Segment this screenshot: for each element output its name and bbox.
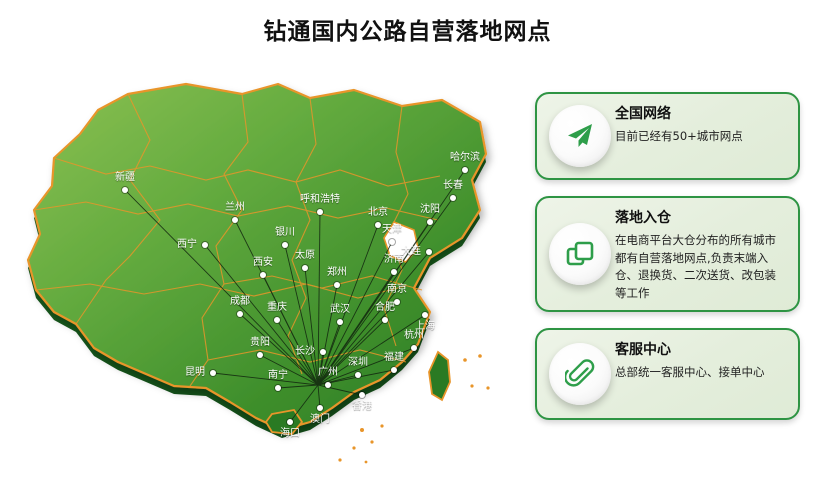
card-title: 落地入仓 [615,210,784,227]
city-label: 武汉 [330,305,350,315]
city-label: 贵阳 [250,338,270,348]
city-dot-icon [237,311,243,317]
city-label: 沈阳 [420,205,440,215]
city-label: 西安 [253,258,273,268]
card-text: 目前已经有50+城市网点 [615,128,784,146]
city-label: 澳门 [310,415,330,425]
card-text: 在电商平台大仓分布的所有城市都有自营落地网点,负责末端入仓、退换货、二次送货、改… [615,232,784,303]
city-label: 深圳 [348,358,368,368]
city-label: 南京 [387,285,407,295]
city-label: 北京 [368,208,388,218]
city-label: 郑州 [327,268,347,278]
city-label: 成都 [230,297,250,307]
city-dot-icon [260,272,266,278]
city-dot-icon [202,242,208,248]
city-dot-icon [355,372,361,378]
city-dot-icon [302,265,308,271]
city-dot-icon [391,367,397,373]
city-label: 香港 [352,402,372,412]
city-label: 呼和浩特 [300,195,340,205]
city-dot-icon [427,219,433,225]
city-dot-icon [257,352,263,358]
city-dot-icon [232,217,238,223]
city-label: 海口 [280,429,300,439]
city-label: 重庆 [267,303,287,313]
city-dot-icon [391,269,397,275]
city-dot-icon [275,385,281,391]
city-label: 大连 [401,247,421,257]
feature-card-kefu-zhongxin[interactable]: 客服中心 总部统一客服中心、接单中心 [535,328,800,420]
city-dot-icon [426,249,432,255]
feature-card-luodi-rucang[interactable]: 落地入仓 在电商平台大仓分布的所有城市都有自营落地网点,负责末端入仓、退换货、二… [535,196,800,312]
city-dot-icon [325,382,331,388]
card-text: 总部统一客服中心、接单中心 [615,364,784,382]
city-label: 银川 [275,228,295,238]
paperclip-icon [549,343,611,405]
taiwan-island [429,352,450,400]
city-dot-icon [334,282,340,288]
feature-card-quanguo-wangluo[interactable]: 全国网络 目前已经有50+城市网点 [535,92,800,180]
city-dot-icon [375,222,381,228]
city-dot-icon [337,319,343,325]
china-map: 新疆兰州西宁银川呼和浩特北京天津哈尔滨长春沈阳大连太原西安济南郑州南京成都重庆武… [10,70,520,470]
feature-card-list: 全国网络 目前已经有50+城市网点 落地入仓 在电商平台大仓分布的所有城市都有自… [535,92,800,420]
city-dot-icon [287,419,293,425]
city-dot-icon [274,317,280,323]
city-label: 太原 [295,251,315,261]
city-label: 合肥 [375,303,395,313]
city-label: 昆明 [185,368,205,378]
city-label: 福建 [384,353,404,363]
city-dot-icon [389,239,395,245]
city-label: 西宁 [177,240,197,250]
paper-plane-icon [549,105,611,167]
city-label: 济南 [384,255,404,265]
copy-layers-icon [549,223,611,285]
city-label: 长春 [443,181,463,191]
city-dot-icon [317,209,323,215]
city-label: 广州 [318,368,338,378]
city-label: 天津 [382,225,402,235]
city-dot-icon [359,392,365,398]
infographic-page: 钻通国内公路自营落地网点 [0,0,815,481]
china-map-svg [10,70,520,470]
city-label: 杭州 [404,331,424,341]
city-dot-icon [122,187,128,193]
city-label: 长沙 [295,347,315,357]
city-label: 新疆 [115,173,135,183]
city-label: 南宁 [268,371,288,381]
city-dot-icon [462,167,468,173]
card-title: 客服中心 [615,342,784,359]
city-dot-icon [282,242,288,248]
city-dot-icon [382,317,388,323]
city-dot-icon [422,312,428,318]
city-dot-icon [320,349,326,355]
city-dot-icon [317,405,323,411]
city-label: 哈尔滨 [450,153,480,163]
page-title: 钻通国内公路自营落地网点 [0,12,815,46]
card-title: 全国网络 [615,106,784,123]
city-dot-icon [411,345,417,351]
city-label: 兰州 [225,203,245,213]
city-dot-icon [210,370,216,376]
city-dot-icon [450,195,456,201]
